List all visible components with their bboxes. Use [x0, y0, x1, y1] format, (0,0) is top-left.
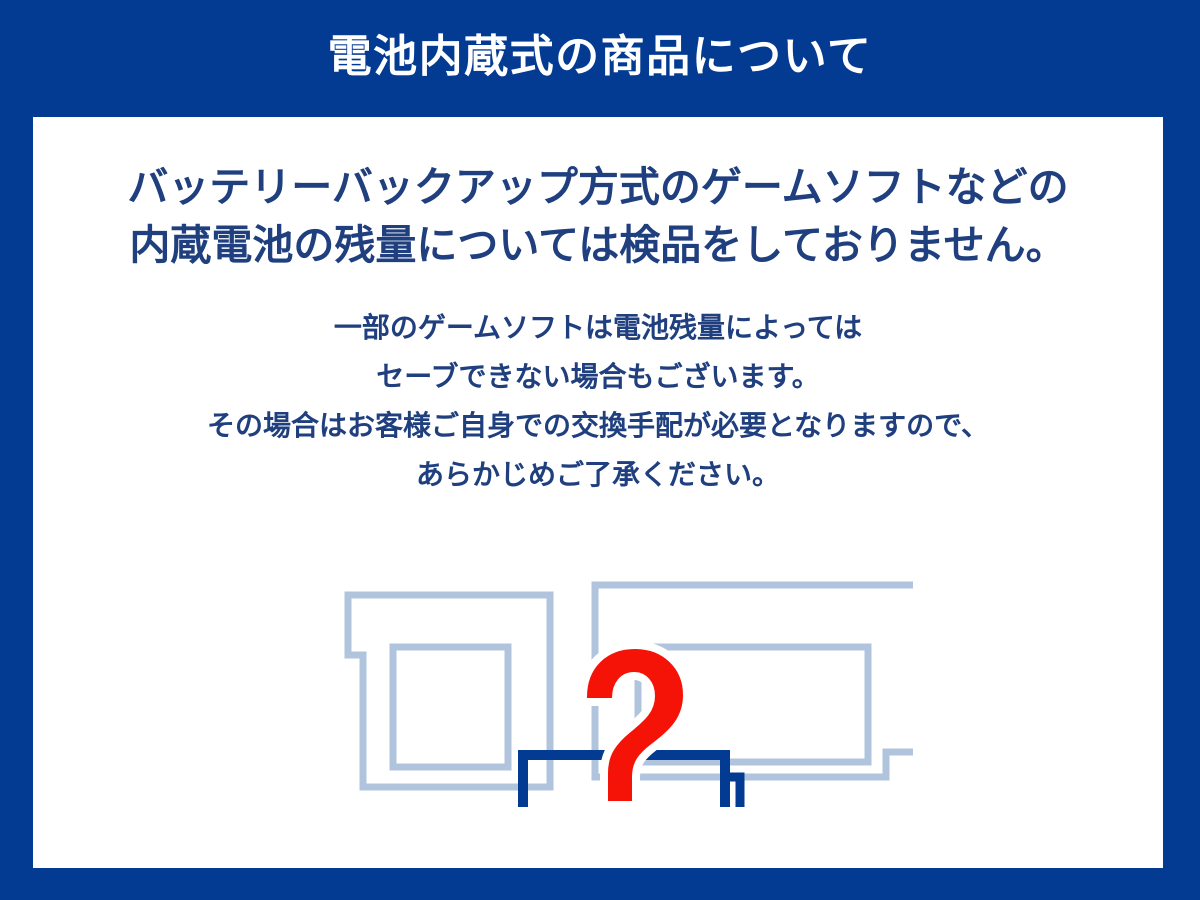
body-block: 一部のゲームソフトは電池残量によっては セーブできない場合もございます。 その場… [33, 314, 1163, 510]
body-line-3: その場合はお客様ご自身での交換手配が必要となりますので、 [33, 412, 1163, 440]
headline-line-2: 内蔵電池の残量については検品をしておりません。 [125, 225, 1070, 266]
headline-line-2-text: 内蔵電池の残量については検品をしておりません。 [129, 222, 1066, 268]
headline-line-1-text: バッテリーバックアップ方式のゲームソフトなどの [127, 164, 1068, 210]
body-line-1: 一部のゲームソフトは電池残量によっては [33, 314, 1163, 342]
poster-root: 電池内蔵式の商品について バッテリーバックアップ方式のゲームソフトなどの 内蔵電… [0, 0, 1200, 900]
page-title: 電池内蔵式の商品について [328, 35, 873, 83]
header-band: 電池内蔵式の商品について [0, 0, 1200, 117]
body-line-2: セーブできない場合もございます。 [33, 363, 1163, 391]
body-line-4: あらかじめご了承ください。 [33, 461, 1163, 489]
content-panel: バッテリーバックアップ方式のゲームソフトなどの 内蔵電池の残量については検品をし… [33, 117, 1163, 868]
headline-line-1: バッテリーバックアップ方式のゲームソフトなどの [123, 167, 1072, 208]
headline-block: バッテリーバックアップ方式のゲームソフトなどの 内蔵電池の残量については検品をし… [33, 167, 1163, 283]
game-cartridge-left-label [393, 647, 508, 767]
question-mark-icon [583, 645, 687, 807]
illustration-group [283, 557, 913, 807]
